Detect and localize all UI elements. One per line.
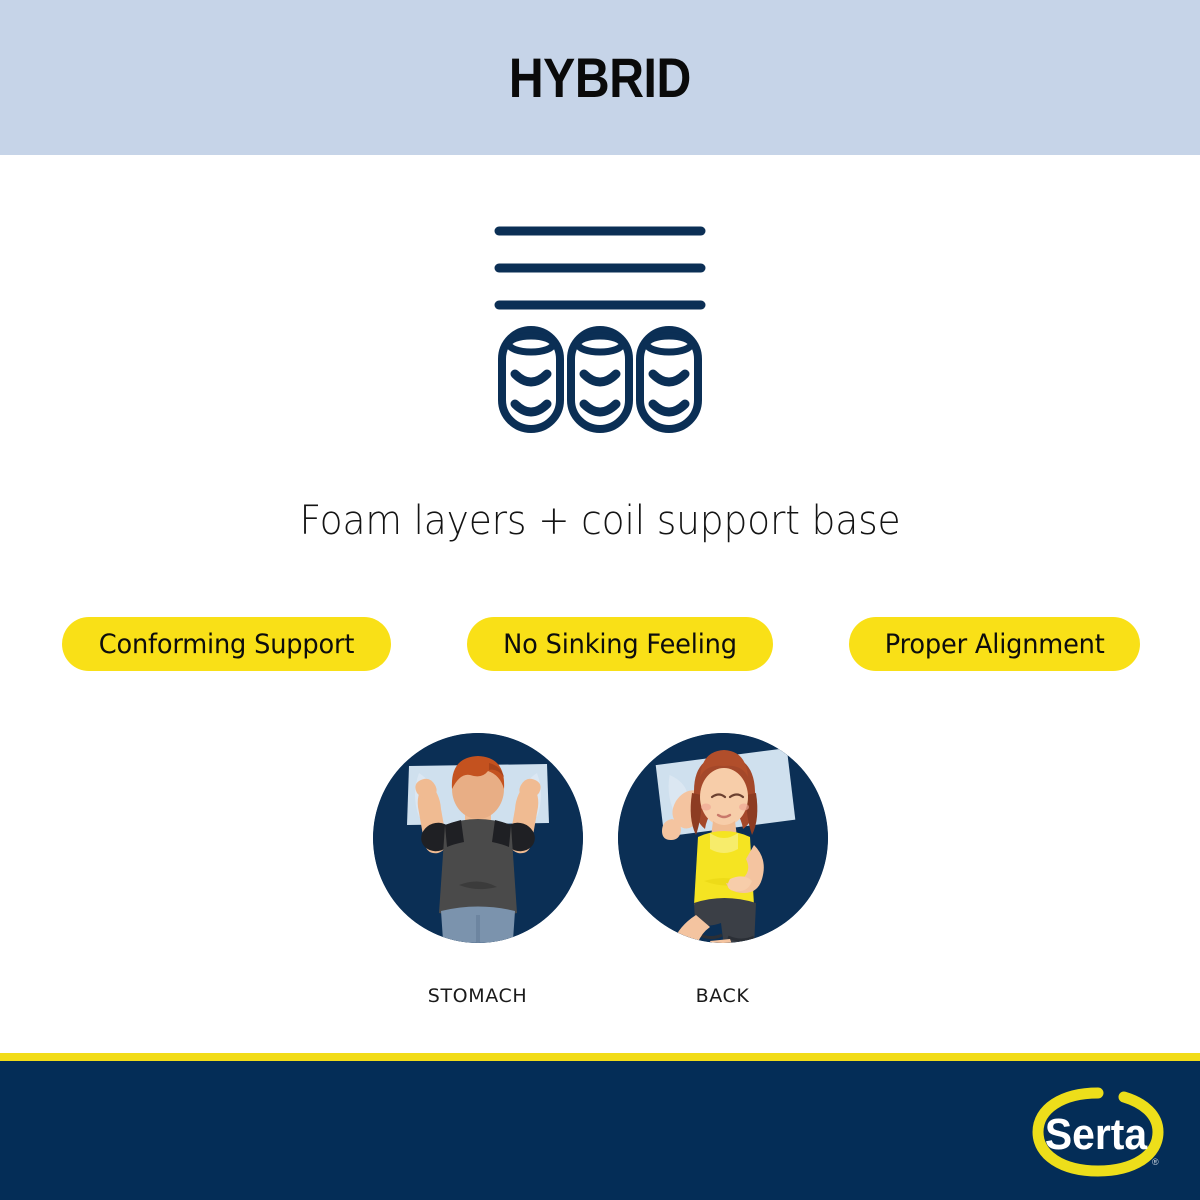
benefit-pill-conforming-support[interactable]: Conforming Support <box>62 617 391 671</box>
head <box>451 756 503 819</box>
shorts <box>441 907 515 944</box>
hybrid-icon-container <box>0 222 1200 437</box>
page-title: HYBRID <box>509 50 691 106</box>
benefit-label: Proper Alignment <box>884 629 1104 660</box>
position-label: STOMACH <box>428 985 527 1007</box>
face <box>700 750 749 826</box>
product-description: Foam layers + coil support base <box>36 498 1164 544</box>
stomach-sleeper-illustration <box>373 733 583 943</box>
footer-band <box>0 1061 1200 1200</box>
support-coil-3 <box>640 330 698 429</box>
serta-wordmark: Serta <box>1045 1111 1148 1160</box>
torso <box>439 819 517 918</box>
sleep-position-stomach[interactable]: STOMACH <box>373 733 583 1007</box>
shorts <box>694 898 756 943</box>
hybrid-mattress-icon <box>490 222 710 437</box>
footer-accent-rule <box>0 1053 1200 1061</box>
benefit-pill-row: Conforming Support No Sinking Feeling Pr… <box>62 617 1140 671</box>
support-coil-2 <box>571 330 629 429</box>
position-label: BACK <box>696 985 750 1007</box>
sleep-position-back[interactable]: BACK <box>618 733 828 1007</box>
back-sleeper-illustration <box>618 733 828 943</box>
registered-mark: ® <box>1152 1157 1159 1167</box>
serta-logo[interactable]: Serta ® <box>1032 1087 1164 1177</box>
support-coil-1 <box>502 330 560 429</box>
infographic-page: HYBRID <box>0 0 1200 1200</box>
sleep-positions-row: STOMACH <box>0 733 1200 1007</box>
benefit-pill-proper-alignment[interactable]: Proper Alignment <box>849 617 1140 671</box>
benefit-label: Conforming Support <box>99 629 354 660</box>
header-band: HYBRID <box>0 0 1200 155</box>
benefit-label: No Sinking Feeling <box>503 629 737 660</box>
benefit-pill-no-sinking-feeling[interactable]: No Sinking Feeling <box>467 617 773 671</box>
